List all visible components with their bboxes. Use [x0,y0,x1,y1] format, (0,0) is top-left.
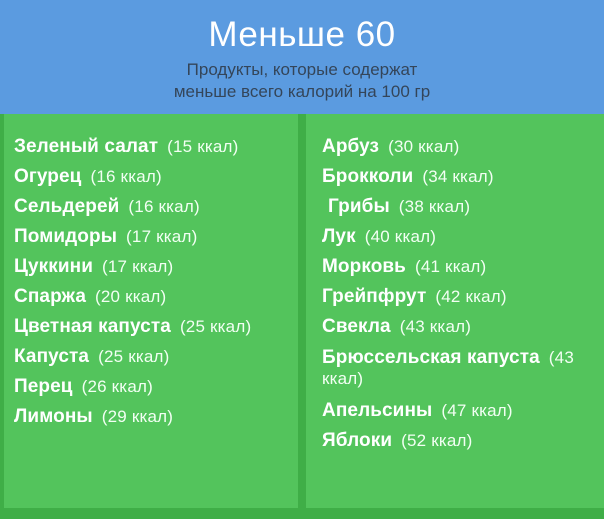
food-name: Грейпфрут [322,286,426,307]
food-name: Свекла [322,316,391,337]
food-kcal: (40 ккал) [365,227,436,246]
list-item: Арбуз(30 ккал) [322,136,604,158]
header-banner: Меньше 60 Продукты, которые содержат мен… [0,0,604,114]
food-name: Цветная капуста [14,316,171,337]
food-kcal: (34 ккал) [422,167,493,186]
list-item: Свекла(43 ккал) [322,316,604,338]
food-kcal: (20 ккал) [95,287,166,306]
page-title: Меньше 60 [0,0,604,56]
food-name: Грибы [328,196,390,217]
food-name: Брокколи [322,166,413,187]
food-kcal: (25 ккал) [98,347,169,366]
list-item: Помидоры(17 ккал) [14,226,298,248]
list-item: Зеленый салат(15 ккал) [14,136,298,158]
food-name: Капуста [14,346,89,367]
food-list-columns: Зеленый салат(15 ккал) Огурец(16 ккал) С… [0,114,604,519]
list-item: Грибы(38 ккал) [322,196,604,218]
food-name: Лимоны [14,406,93,427]
list-item: Сельдерей(16 ккал) [14,196,298,218]
food-name: Морковь [322,256,406,277]
food-name: Яблоки [322,430,392,451]
list-item: Морковь(41 ккал) [322,256,604,278]
food-kcal: (43 ккал) [400,317,471,336]
food-name: Брюссельская капуста [322,347,540,368]
food-name: Цуккини [14,256,93,277]
list-item: Перец(26 ккал) [14,376,298,398]
food-kcal: (15 ккал) [167,137,238,156]
food-kcal: (25 ккал) [180,317,251,336]
food-kcal: (41 ккал) [415,257,486,276]
food-name: Спаржа [14,286,86,307]
food-name: Помидоры [14,226,117,247]
list-item: Лук(40 ккал) [322,226,604,248]
subtitle-line-1: Продукты, которые содержат [187,60,418,79]
food-kcal: (16 ккал) [128,197,199,216]
right-column-panel: Арбуз(30 ккал) Брокколи(34 ккал) Грибы(3… [306,114,604,508]
food-kcal: (52 ккал) [401,431,472,450]
list-item: Спаржа(20 ккал) [14,286,298,308]
food-kcal: (42 ккал) [435,287,506,306]
list-item: Апельсины(47 ккал) [322,400,604,422]
food-name: Огурец [14,166,81,187]
list-item: Цветная капуста(25 ккал) [14,316,298,338]
food-name: Апельсины [322,400,432,421]
food-name: Зеленый салат [14,136,158,157]
food-kcal: (29 ккал) [102,407,173,426]
food-kcal: (38 ккал) [399,197,470,216]
list-item: Грейпфрут(42 ккал) [322,286,604,308]
subtitle-line-2: меньше всего калорий на 100 гр [174,82,430,101]
list-item: Огурец(16 ккал) [14,166,298,188]
list-item: Брокколи(34 ккал) [322,166,604,188]
list-item: Яблоки(52 ккал) [322,430,604,452]
infographic-root: Меньше 60 Продукты, которые содержат мен… [0,0,604,519]
page-subtitle: Продукты, которые содержат меньше всего … [0,56,604,103]
food-name: Лук [322,226,356,247]
food-name: Арбуз [322,136,379,157]
food-kcal: (47 ккал) [441,401,512,420]
food-kcal: (16 ккал) [90,167,161,186]
food-kcal: (17 ккал) [102,257,173,276]
list-item: Лимоны(29 ккал) [14,406,298,428]
list-item: Капуста(25 ккал) [14,346,298,368]
left-column-panel: Зеленый салат(15 ккал) Огурец(16 ккал) С… [4,114,298,508]
food-kcal: (17 ккал) [126,227,197,246]
food-kcal: (26 ккал) [82,377,153,396]
list-item: Брюссельская капуста(43 ккал) [322,348,604,390]
list-item: Цуккини(17 ккал) [14,256,298,278]
food-kcal: (30 ккал) [388,137,459,156]
food-name: Сельдерей [14,196,119,217]
food-name: Перец [14,376,73,397]
